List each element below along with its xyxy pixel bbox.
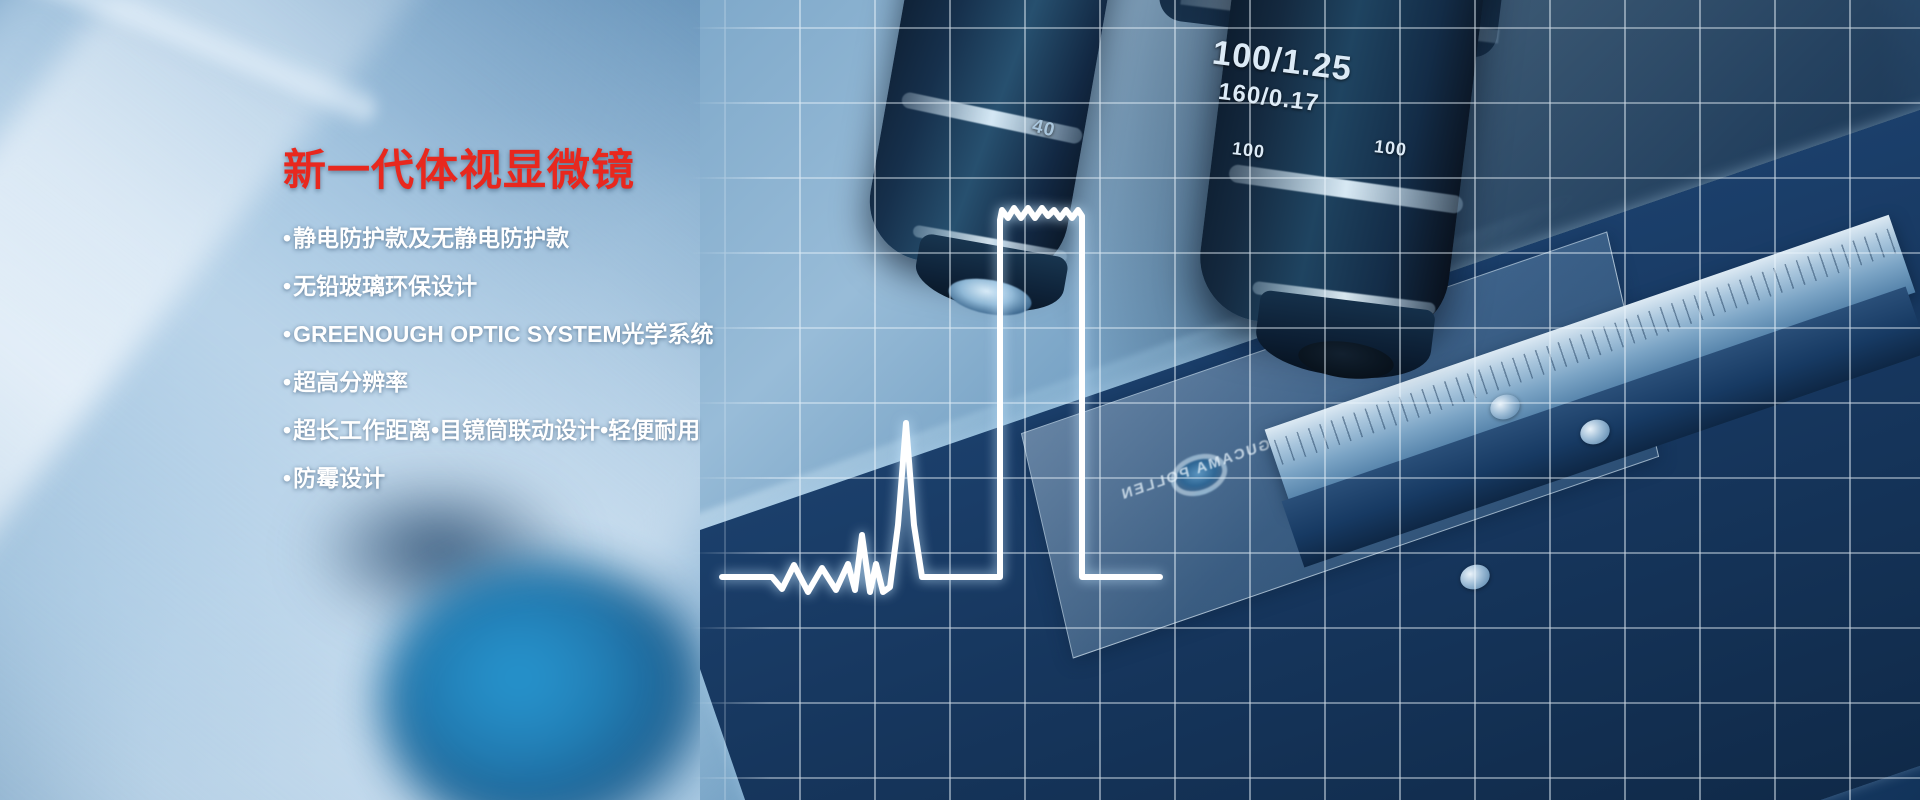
feature-list: •静电防护款及无静电防护款 •无铅玻璃环保设计 •GREENOUGH OPTIC… [283, 227, 803, 490]
hero-copy: 新一代体视显微镜 •静电防护款及无静电防护款 •无铅玻璃环保设计 •GREENO… [283, 150, 803, 515]
bullet-icon: • [283, 417, 291, 443]
list-item: •无铅玻璃环保设计 [283, 275, 803, 298]
list-item: •防霉设计 [283, 467, 803, 490]
bullet-icon: • [283, 273, 291, 299]
list-item: •静电防护款及无静电防护款 [283, 227, 803, 250]
objective-magnification-center-text: 100 [1231, 138, 1266, 163]
feature-text: 超高分辨率 [293, 369, 408, 395]
feature-text: 无铅玻璃环保设计 [293, 273, 477, 299]
bullet-icon: • [283, 369, 291, 395]
feature-text: 防霉设计 [293, 465, 385, 491]
bullet-icon: • [283, 465, 291, 491]
list-item: •GREENOUGH OPTIC SYSTEM光学系统 [283, 323, 803, 346]
product-hero-banner: GUCAMA POLLEN 100/1.25 160/0.17 100 100 … [0, 0, 1920, 800]
microscope-photo: GUCAMA POLLEN 100/1.25 160/0.17 100 100 … [700, 0, 1920, 800]
list-item: •超长工作距离•目镜筒联动设计•轻便耐用 [283, 419, 803, 442]
bullet-icon: • [283, 321, 291, 347]
feature-text: 静电防护款及无静电防护款 [293, 225, 569, 251]
feature-text: 超长工作距离•目镜筒联动设计•轻便耐用 [293, 417, 700, 443]
feature-text: GREENOUGH OPTIC SYSTEM光学系统 [293, 321, 713, 347]
bullet-icon: • [283, 225, 291, 251]
objective-magnification-right-text: 100 [1373, 136, 1408, 161]
page-title: 新一代体视显微镜 [283, 150, 803, 193]
list-item: •超高分辨率 [283, 371, 803, 394]
